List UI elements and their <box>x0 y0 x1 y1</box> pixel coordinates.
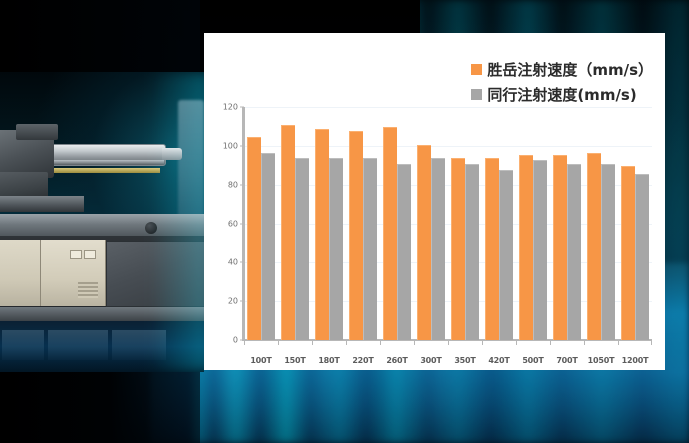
chart-legend: 胜岳注射速度（mm/s） 同行注射速度(mm/s) <box>471 59 653 105</box>
bar-1200T-series-1[interactable] <box>635 174 649 340</box>
bar-500T-series-1[interactable] <box>533 160 547 340</box>
photo-floor-block-2 <box>48 330 108 360</box>
bar-group <box>618 107 652 340</box>
bar-150T-series-0[interactable] <box>281 125 295 340</box>
bar-350T-series-1[interactable] <box>465 164 479 340</box>
bar-1200T-series-0[interactable] <box>621 166 635 340</box>
chart-panel: 胜岳注射速度（mm/s） 同行注射速度(mm/s) 02040608010012… <box>204 33 665 370</box>
bar-180T-series-1[interactable] <box>329 158 343 340</box>
x-tick-label: 350T <box>454 356 475 365</box>
x-tick-mark <box>380 340 381 345</box>
bar-700T-series-0[interactable] <box>553 155 567 340</box>
x-tick-label: 180T <box>318 356 339 365</box>
y-tick-label-120: 120 <box>223 103 238 112</box>
y-tick-mark-40 <box>240 262 244 263</box>
bar-220T-series-0[interactable] <box>349 131 363 340</box>
x-tick-mark <box>448 340 449 345</box>
bar-260T-series-1[interactable] <box>397 164 411 340</box>
x-tick-label: 500T <box>522 356 543 365</box>
x-tick-mark <box>550 340 551 345</box>
x-tick-mark <box>584 340 585 345</box>
plot-area: 020406080100120 <box>244 107 652 340</box>
x-tick-mark <box>278 340 279 345</box>
bar-group <box>550 107 584 340</box>
bar-420T-series-1[interactable] <box>499 170 513 340</box>
x-tick-mark <box>516 340 517 345</box>
bar-220T-series-1[interactable] <box>363 158 377 340</box>
bar-700T-series-1[interactable] <box>567 164 581 340</box>
y-tick-label-20: 20 <box>228 297 238 306</box>
bar-group <box>278 107 312 340</box>
x-tick-label: 700T <box>556 356 577 365</box>
x-tick-100T: 100T <box>244 340 278 368</box>
y-tick-mark-80 <box>240 184 244 185</box>
x-tick-label: 1200T <box>622 356 649 365</box>
x-tick-mark <box>346 340 347 345</box>
y-tick-label-60: 60 <box>228 219 238 228</box>
bar-group <box>244 107 278 340</box>
bar-group <box>448 107 482 340</box>
bar-groups <box>244 107 652 340</box>
legend-item-series-0: 胜岳注射速度（mm/s） <box>471 59 653 80</box>
x-tick-mark <box>618 340 619 345</box>
x-tick-label: 100T <box>250 356 271 365</box>
x-tick-350T: 350T <box>448 340 482 368</box>
x-tick-mark <box>312 340 313 345</box>
bar-group <box>414 107 448 340</box>
x-tick-label: 1050T <box>588 356 615 365</box>
slide-stage: 胜岳注射速度（mm/s） 同行注射速度(mm/s) 02040608010012… <box>0 0 689 443</box>
x-tick-500T: 500T <box>516 340 550 368</box>
x-tick-label: 300T <box>420 356 441 365</box>
x-tick-mark <box>414 340 415 345</box>
x-tick-label: 220T <box>352 356 373 365</box>
machine-panel-left <box>0 240 41 306</box>
bar-group <box>482 107 516 340</box>
x-tick-1200T: 1200T <box>618 340 652 368</box>
x-tick-150T: 150T <box>278 340 312 368</box>
machine-switch-1 <box>70 250 82 259</box>
y-tick-label-40: 40 <box>228 258 238 267</box>
bar-180T-series-0[interactable] <box>315 129 329 340</box>
bar-100T-series-0[interactable] <box>247 137 261 340</box>
machine-slide-rail <box>0 196 84 212</box>
bar-260T-series-0[interactable] <box>383 127 397 340</box>
bar-300T-series-0[interactable] <box>417 145 431 340</box>
legend-label-series-1: 同行注射速度(mm/s) <box>487 84 636 105</box>
y-tick-label-80: 80 <box>228 180 238 189</box>
bar-500T-series-0[interactable] <box>519 155 533 340</box>
x-tick-label: 260T <box>386 356 407 365</box>
machine-brass-rod <box>50 168 160 173</box>
bar-1050T-series-0[interactable] <box>587 153 601 340</box>
legend-item-series-1: 同行注射速度(mm/s) <box>471 84 636 105</box>
bar-1050T-series-1[interactable] <box>601 164 615 340</box>
x-tick-300T: 300T <box>414 340 448 368</box>
bar-100T-series-1[interactable] <box>261 153 275 340</box>
x-tick-label: 420T <box>488 356 509 365</box>
photo-floor-block-1 <box>2 330 44 360</box>
x-tick-180T: 180T <box>312 340 346 368</box>
machine-vent-grille <box>78 282 98 298</box>
x-axis-tick-labels: 100T150T180T220T260T300T350T420T500T700T… <box>244 340 652 368</box>
bar-420T-series-0[interactable] <box>485 158 499 340</box>
bar-150T-series-1[interactable] <box>295 158 309 340</box>
bar-group <box>380 107 414 340</box>
machine-switch-2 <box>84 250 96 259</box>
y-tick-mark-100 <box>240 145 244 146</box>
bar-350T-series-0[interactable] <box>451 158 465 340</box>
bar-group <box>584 107 618 340</box>
x-tick-420T: 420T <box>482 340 516 368</box>
legend-swatch-series-1 <box>471 89 482 100</box>
machine-top-block <box>16 124 58 140</box>
x-tick-mark <box>482 340 483 345</box>
x-tick-mark <box>244 340 245 345</box>
bar-group <box>516 107 550 340</box>
bar-group <box>312 107 346 340</box>
photo-edge-glow <box>150 72 204 372</box>
bar-300T-series-1[interactable] <box>431 158 445 340</box>
y-tick-label-0: 0 <box>233 336 238 345</box>
x-tick-label: 150T <box>284 356 305 365</box>
bar-group <box>346 107 380 340</box>
legend-swatch-series-0 <box>471 64 482 75</box>
x-tick-1050T: 1050T <box>584 340 618 368</box>
x-tick-260T: 260T <box>380 340 414 368</box>
y-tick-label-100: 100 <box>223 141 238 150</box>
x-tick-220T: 220T <box>346 340 380 368</box>
legend-label-series-0: 胜岳注射速度（mm/s） <box>487 59 653 80</box>
x-tick-700T: 700T <box>550 340 584 368</box>
machine-guide-rod <box>44 160 164 164</box>
x-tick-mark-end <box>651 340 652 345</box>
y-tick-mark-120 <box>240 107 244 108</box>
y-tick-mark-20 <box>240 301 244 302</box>
y-tick-mark-60 <box>240 223 244 224</box>
injection-molding-machine-photo <box>0 72 204 372</box>
